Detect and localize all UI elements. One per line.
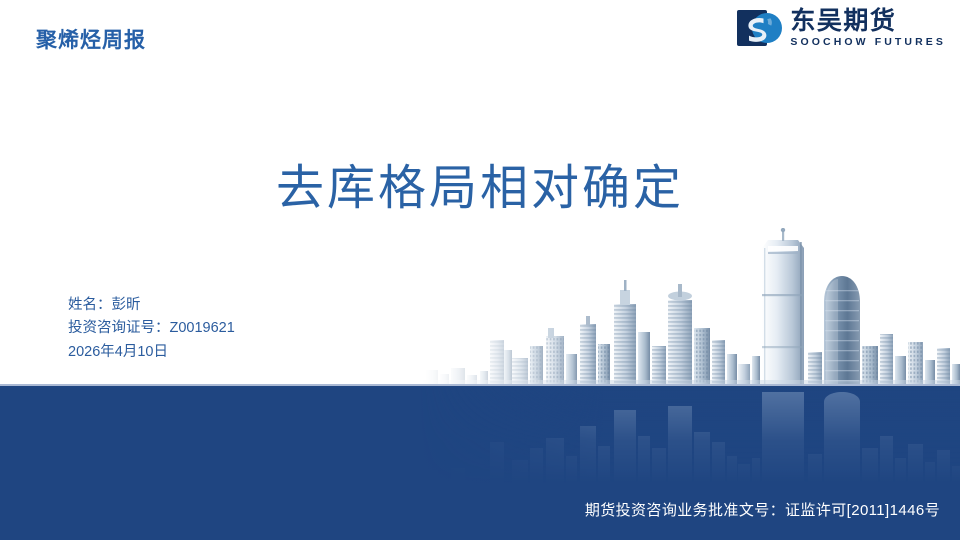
soochow-futures-logo-mark xyxy=(737,8,783,48)
band-top-hairline xyxy=(0,384,960,386)
city-skyline-reflection xyxy=(420,388,960,484)
reflection-svg xyxy=(420,388,960,484)
regulatory-approval-note: 期货投资咨询业务批准文号：证监许可[2011]1446号 xyxy=(585,499,940,520)
author-info-block: 姓名：彭昕 投资咨询证号：Z0019621 2026年4月10日 xyxy=(68,294,235,364)
report-date: 2026年4月10日 xyxy=(68,341,235,364)
logo-name-en: SOOCHOW FUTURES xyxy=(790,37,946,48)
company-logo: 东吴期货 SOOCHOW FUTURES xyxy=(737,8,946,48)
slide-main-title: 去库格局相对确定 xyxy=(0,148,960,218)
logo-wordmark: 东吴期货 SOOCHOW FUTURES xyxy=(790,8,946,48)
report-series-title: 聚烯烃周报 xyxy=(36,24,146,54)
slide-header: 聚烯烃周报 东吴期货 SOOCHOW FUTURES xyxy=(0,0,960,68)
author-license-number: 投资咨询证号：Z0019621 xyxy=(68,317,235,340)
skyline-svg xyxy=(420,228,960,388)
logo-name-cn: 东吴期货 xyxy=(790,8,946,33)
author-name: 姓名：彭昕 xyxy=(68,294,235,317)
city-skyline-illustration xyxy=(420,228,960,388)
presentation-slide: 聚烯烃周报 东吴期货 SOOCHOW FUTURES 去库格局相对确定 姓名：彭… xyxy=(0,0,960,540)
